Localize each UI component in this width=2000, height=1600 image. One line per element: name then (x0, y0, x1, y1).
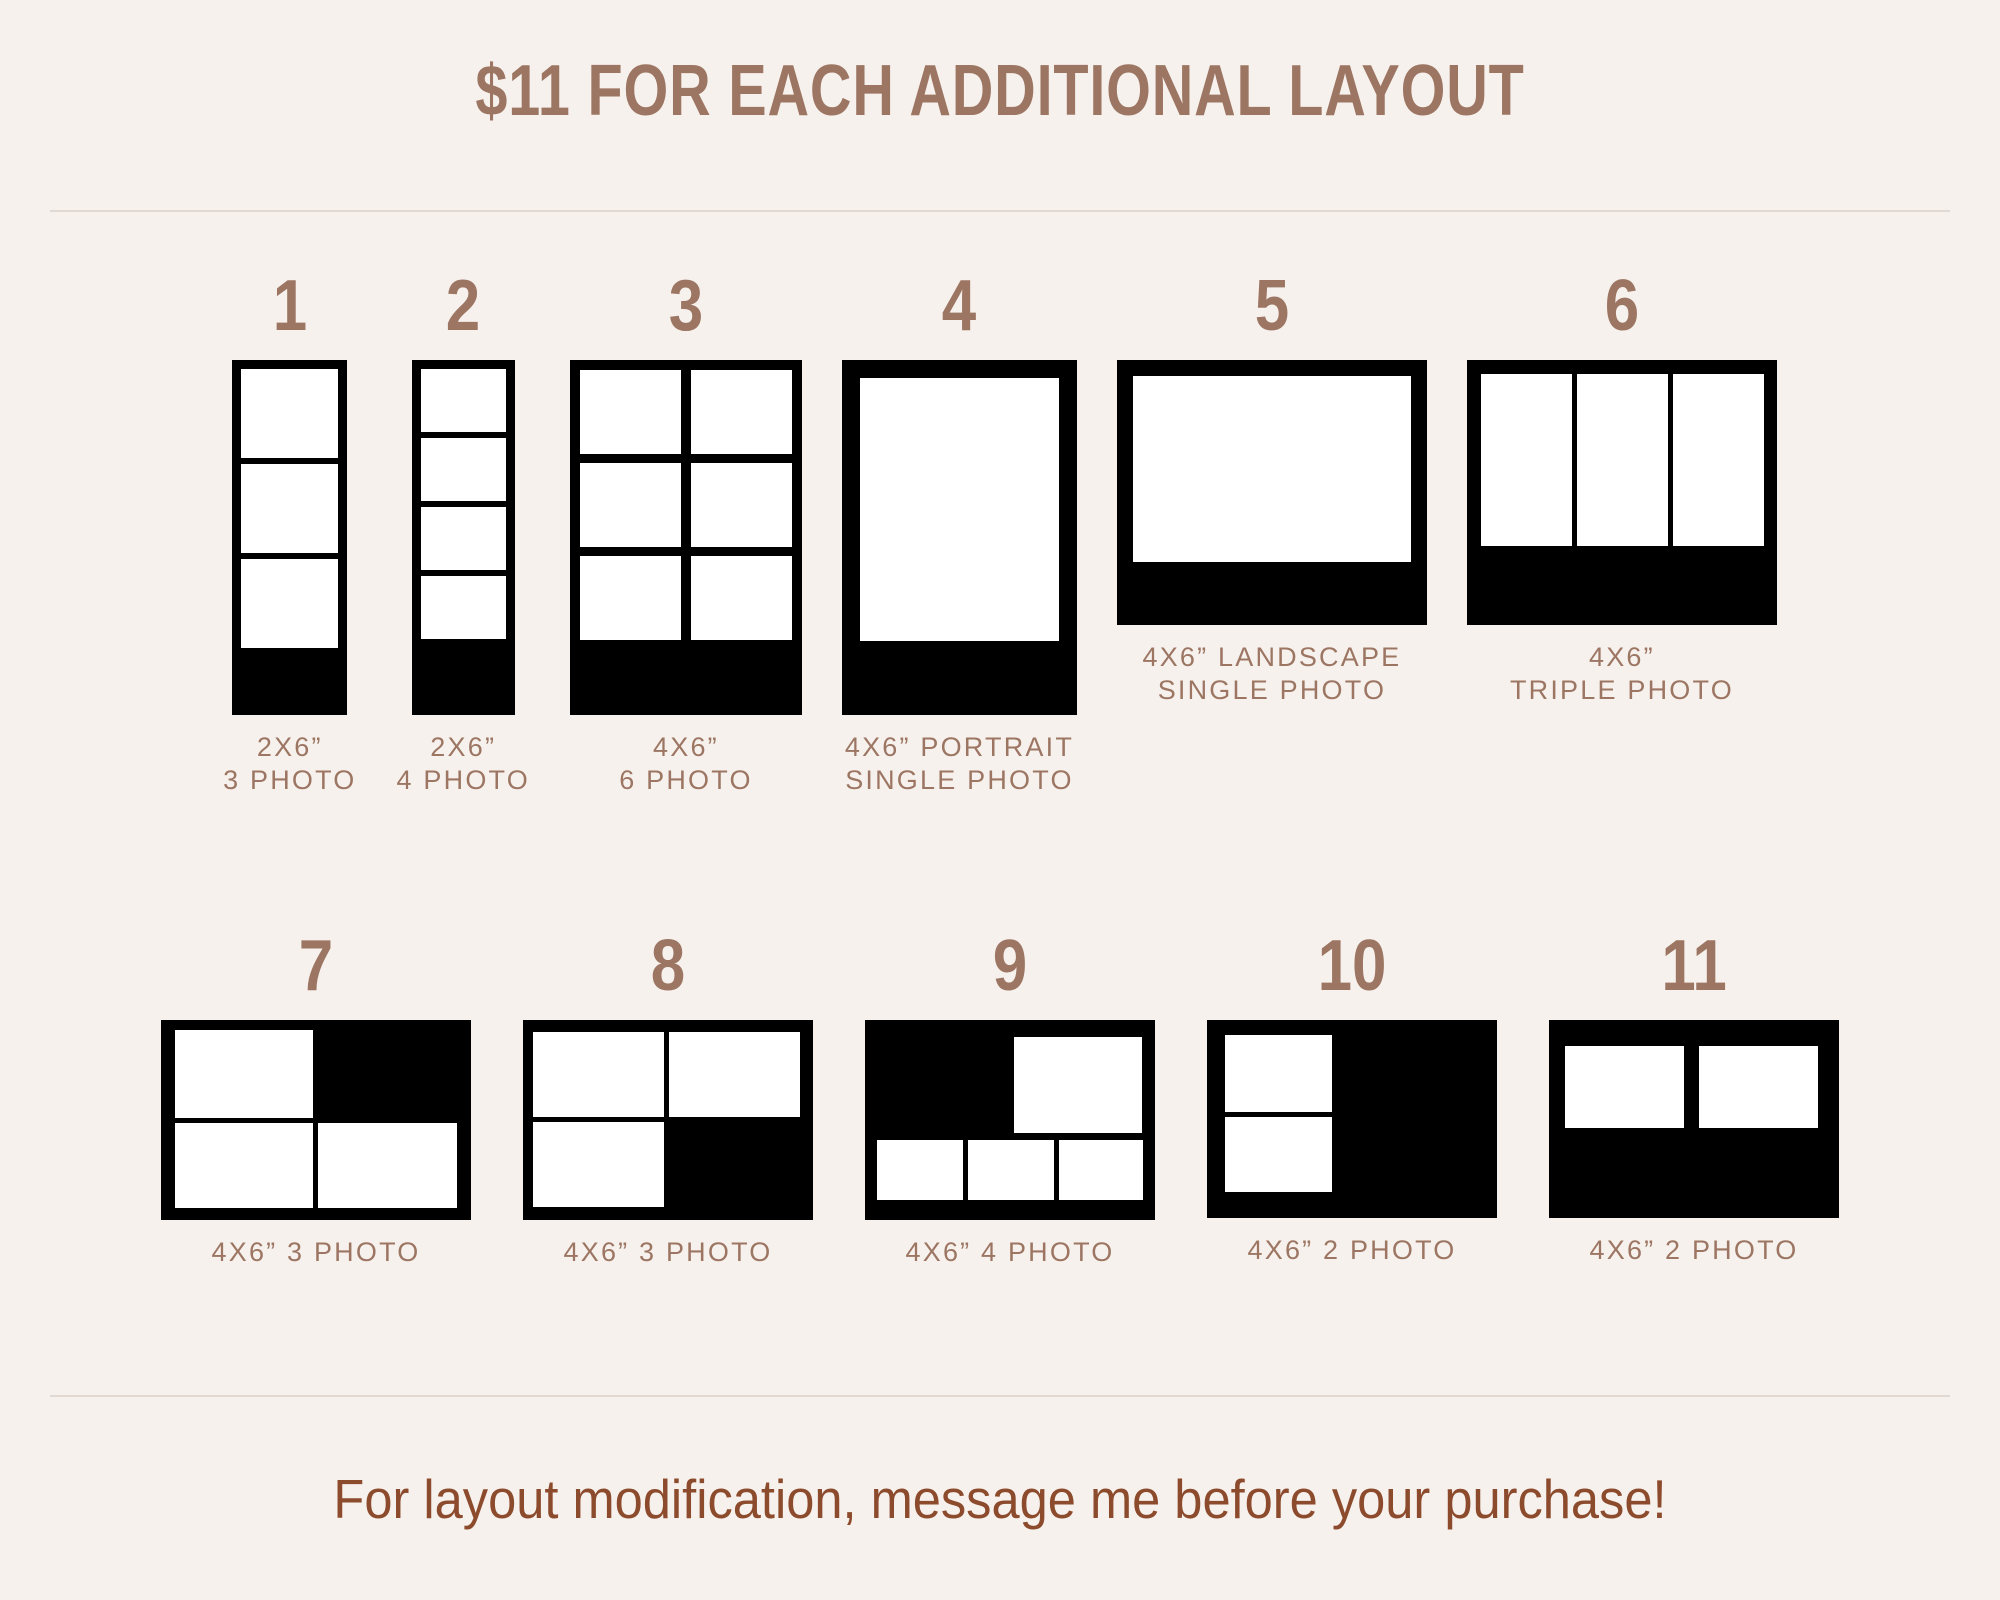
layout-number: 9 (993, 930, 1027, 1002)
photo-slot (1225, 1117, 1332, 1192)
portrait-frame (842, 360, 1077, 715)
photo-slot (421, 369, 506, 432)
layout-caption: 4X6” PORTRAIT SINGLE PHOTO (845, 731, 1074, 797)
layout-caption: 4X6” TRIPLE PHOTO (1510, 641, 1734, 707)
photo-slot (175, 1123, 313, 1208)
layout-preview (1207, 1020, 1497, 1218)
photo-slot (1481, 374, 1572, 546)
layout-preview (570, 360, 802, 715)
photo-slot (175, 1030, 313, 1118)
photo-slot (421, 576, 506, 639)
layout-number: 8 (651, 930, 685, 1002)
photo-slot (1133, 376, 1411, 562)
photo-slot (1577, 374, 1668, 546)
layout-preview (1117, 360, 1427, 625)
layout-card-4[interactable]: 4 4X6” PORTRAIT SINGLE PHOTO (842, 270, 1077, 797)
photo-slot (580, 370, 681, 454)
photo-slot (877, 1140, 963, 1200)
layout-card-5[interactable]: 5 4X6” LANDSCAPE SINGLE PHOTO (1117, 270, 1427, 707)
collage-frame (865, 1020, 1155, 1220)
photo-slot (580, 463, 681, 547)
photo-slot (691, 370, 792, 454)
layout-preview (865, 1020, 1155, 1220)
layout-card-8[interactable]: 8 4X6” 3 PHOTO (523, 930, 813, 1269)
photo-slot (691, 463, 792, 547)
layout-price-poster: $11 FOR EACH ADDITIONAL LAYOUT 1 2X6” 3 … (0, 0, 2000, 1600)
layout-card-6[interactable]: 6 4X6” TRIPLE PHOTO (1467, 270, 1777, 707)
layout-caption: 2X6” 4 PHOTO (397, 731, 530, 797)
photo-slot (1673, 374, 1764, 546)
layout-card-3[interactable]: 3 4X6” 6 PHOTO (570, 270, 802, 797)
photo-strip-frame (232, 360, 347, 715)
photo-slot (860, 378, 1059, 641)
layout-card-9[interactable]: 9 4X6” 4 PHOTO (865, 930, 1155, 1269)
bottom-divider (50, 1395, 1950, 1397)
layout-number: 2 (446, 270, 480, 342)
layout-preview (1549, 1020, 1839, 1218)
layout-caption: 4X6” 2 PHOTO (1590, 1234, 1799, 1267)
photo-slot (968, 1140, 1054, 1200)
layout-number: 5 (1255, 270, 1289, 342)
layout-caption: 4X6” 4 PHOTO (906, 1236, 1115, 1269)
layout-card-10[interactable]: 10 4X6” 2 PHOTO (1207, 930, 1497, 1267)
layout-caption: 4X6” 3 PHOTO (212, 1236, 421, 1269)
photo-slot (669, 1032, 800, 1117)
layout-preview (232, 360, 347, 715)
layout-number: 10 (1318, 930, 1387, 1002)
photo-slot (533, 1122, 664, 1207)
photo-slot (241, 369, 338, 458)
layout-number: 11 (1661, 930, 1726, 1002)
landscape-frame (1117, 360, 1427, 625)
layout-number: 4 (942, 270, 976, 342)
layout-row-1: 1 2X6” 3 PHOTO 2 2X6” 4 P (0, 270, 2000, 797)
photo-slot (1565, 1046, 1684, 1128)
page-title: $11 FOR EACH ADDITIONAL LAYOUT (200, 52, 1800, 130)
layout-caption: 4X6” 3 PHOTO (564, 1236, 773, 1269)
triple-frame (1467, 360, 1777, 625)
layout-card-2[interactable]: 2 2X6” 4 PHOTO (397, 270, 530, 797)
layout-preview (523, 1020, 813, 1220)
layout-row-2: 7 4X6” 3 PHOTO 8 4X6” 3 PHOTO (0, 930, 2000, 1269)
collage-frame (523, 1020, 813, 1220)
layout-caption: 2X6” 3 PHOTO (223, 731, 356, 797)
layout-preview (161, 1020, 471, 1220)
collage-frame (161, 1020, 471, 1220)
layout-number: 1 (273, 270, 307, 342)
layout-caption: 4X6” 6 PHOTO (619, 731, 752, 797)
layout-number: 3 (669, 270, 703, 342)
footer-note: For layout modification, message me befo… (80, 1468, 1920, 1530)
layout-card-1[interactable]: 1 2X6” 3 PHOTO (223, 270, 356, 797)
photo-slot (1699, 1046, 1818, 1128)
collage-frame (1207, 1020, 1497, 1218)
layout-caption: 4X6” LANDSCAPE SINGLE PHOTO (1142, 641, 1401, 707)
top-divider (50, 210, 1950, 212)
layout-card-11[interactable]: 11 4X6” 2 PHOTO (1549, 930, 1839, 1267)
photo-slot (1014, 1037, 1142, 1133)
photo-grid-frame (570, 360, 802, 715)
photo-slot (1059, 1140, 1143, 1200)
photo-slot (318, 1123, 457, 1208)
photo-slot (241, 464, 338, 553)
layout-number: 6 (1605, 270, 1639, 342)
layout-caption: 4X6” 2 PHOTO (1248, 1234, 1457, 1267)
photo-slot (533, 1032, 664, 1117)
layout-number: 7 (299, 930, 333, 1002)
collage-frame (1549, 1020, 1839, 1218)
photo-slot (580, 556, 681, 640)
photo-slot (421, 438, 506, 501)
layout-preview (412, 360, 515, 715)
layout-preview (842, 360, 1077, 715)
layout-preview (1467, 360, 1777, 625)
photo-slot (421, 507, 506, 570)
photo-slot (1225, 1035, 1332, 1112)
photo-slot (691, 556, 792, 640)
layout-card-7[interactable]: 7 4X6” 3 PHOTO (161, 930, 471, 1269)
photo-slot (241, 559, 338, 648)
photo-strip-frame (412, 360, 515, 715)
